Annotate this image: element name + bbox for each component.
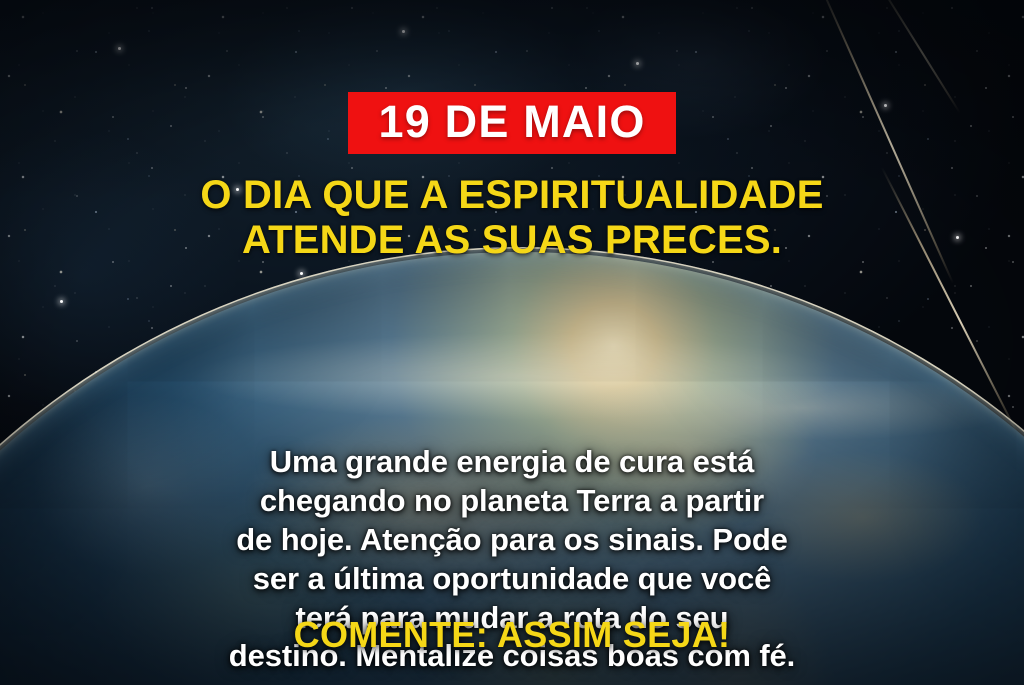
date-banner: 19 DE MAIO	[348, 92, 675, 154]
poster-content: 19 DE MAIO O DIA QUE A ESPIRITUALIDADE A…	[0, 0, 1024, 685]
call-to-action-label: COMENTE: ASSIM SEJA!	[0, 614, 1024, 656]
social-media-poster: 19 DE MAIO O DIA QUE A ESPIRITUALIDADE A…	[0, 0, 1024, 685]
date-banner-label: 19 DE MAIO	[378, 99, 645, 144]
headline: O DIA QUE A ESPIRITUALIDADE ATENDE AS SU…	[200, 173, 823, 263]
